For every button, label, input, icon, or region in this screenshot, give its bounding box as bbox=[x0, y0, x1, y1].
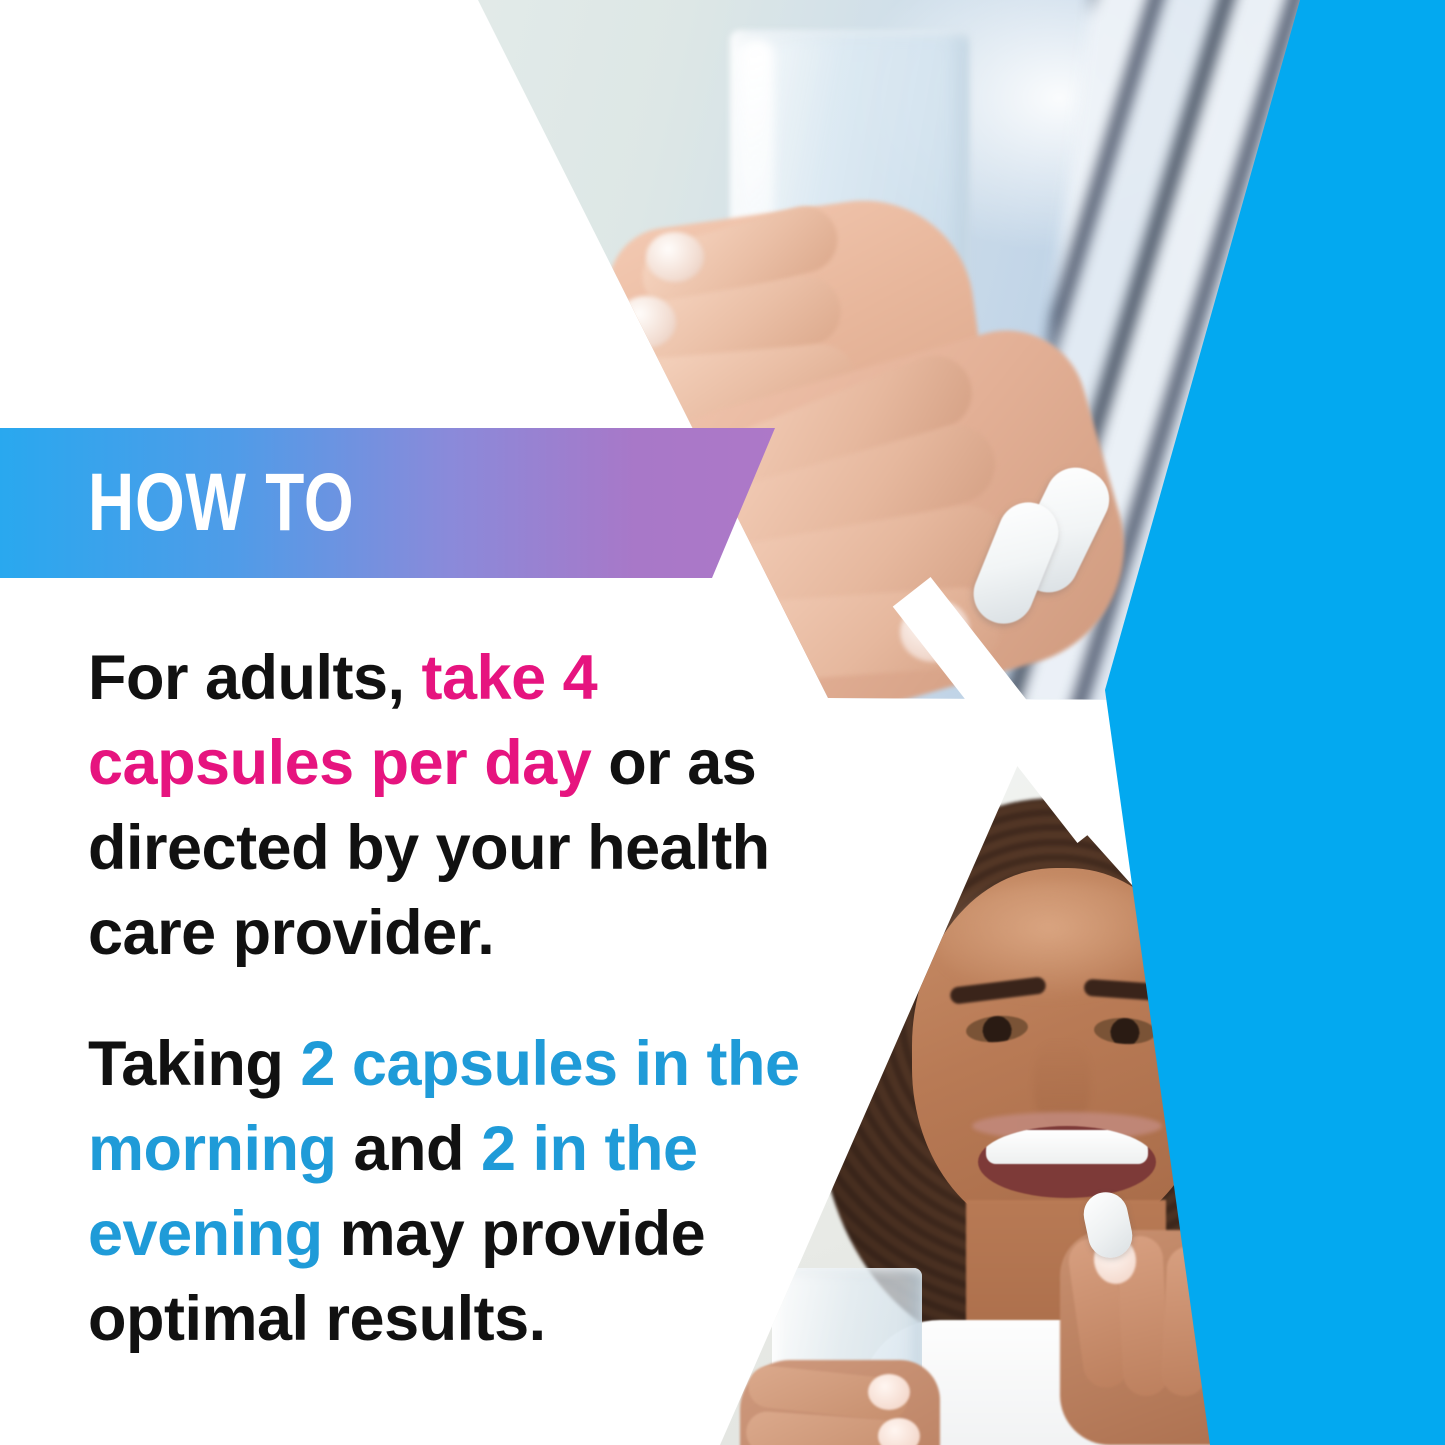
smiling-mouth bbox=[978, 1126, 1156, 1198]
timing-paragraph: Taking 2 capsules in the morning and 2 i… bbox=[88, 1022, 848, 1362]
teeth bbox=[986, 1130, 1148, 1164]
fingernail bbox=[868, 1374, 910, 1410]
fingernail bbox=[616, 296, 676, 348]
how-to-title: HOW TO bbox=[88, 462, 354, 544]
fingernail bbox=[646, 232, 704, 282]
dosage-paragraph: For adults, take 4 capsules per day or a… bbox=[88, 636, 848, 976]
how-to-banner: HOW TO bbox=[0, 428, 775, 578]
instructions-copy: For adults, take 4 capsules per day or a… bbox=[88, 636, 848, 1362]
infographic-panel: HOW TO For adults, take 4 capsules per d… bbox=[0, 0, 1445, 1445]
timing-text-lead: Taking bbox=[88, 1029, 300, 1099]
dosage-text-lead: For adults, bbox=[88, 643, 422, 713]
timing-text-mid: and bbox=[336, 1114, 481, 1184]
